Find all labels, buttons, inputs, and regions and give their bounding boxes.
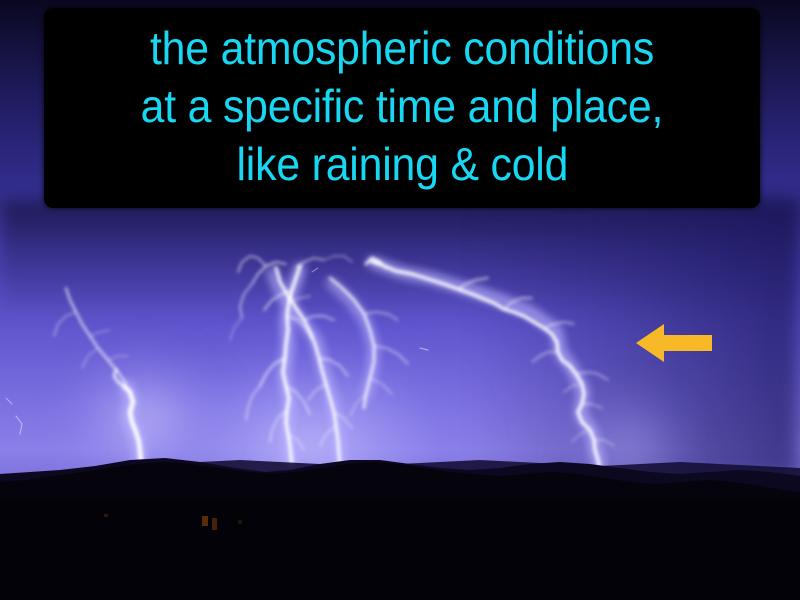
caption-line-1: the atmospheric conditions (150, 19, 654, 77)
ground-silhouette (0, 430, 800, 600)
flashcard-stage: the atmospheric conditions at a specific… (0, 0, 800, 600)
caption-line-2: at a specific time and place, (141, 77, 664, 135)
definition-caption-box: the atmospheric conditions at a specific… (44, 8, 760, 208)
caption-line-3: like raining & cold (236, 135, 568, 193)
arrow-left-icon (634, 322, 714, 364)
